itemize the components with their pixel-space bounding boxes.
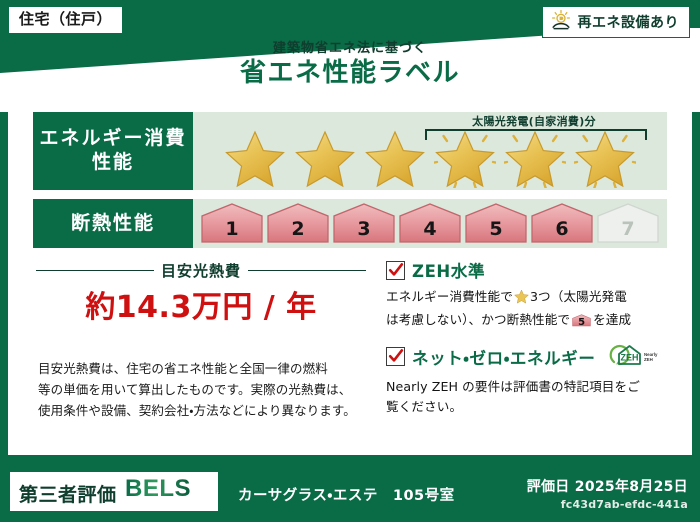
property-name: カーサグラス・エステ 105号室 [238,484,455,505]
note-line: 目安光熱費は、住宅の省エネ性能と全国一律の燃料 [38,358,374,379]
insulation-grade-value: 4 [423,218,436,244]
evaluation-date-label: 評価日 [527,479,570,495]
energy-performance-label: エネルギー消費性能 [33,112,193,190]
insulation-grade-badge-unachieved: 7 [596,203,660,244]
criteria-column: ZEH水準 エネルギー消費性能で3つ（太陽光発電 は考慮しない）、かつ断熱性能で… [386,258,678,429]
label-headings: 建築物省エネ法に基づく 省エネ性能ラベル [0,42,700,88]
criterion-title: ネット・ゼロ・エネルギー [412,345,595,369]
energy-performance-body: 太陽光発電(自家消費)分 [193,112,667,190]
evaluation-meta: 評価日 2025年8月25日 fc43d7ab-efdc-441a [527,476,688,511]
evaluation-date: 評価日 2025年8月25日 [527,476,688,496]
checkbox-checked-icon[interactable] [386,347,405,366]
utility-cost-value: 約14.3万円 / 年 [36,282,366,326]
insulation-grade-badge: 3 [332,203,396,244]
third-party-evaluation-label: 第三者評価 [19,480,117,507]
criterion-text: は考慮しない）、かつ断熱性能で [386,312,570,327]
utility-cost-title: 目安光熱費 [161,260,241,281]
insulation-grade-badge: 1 [200,203,264,244]
rule-left [36,270,154,271]
criterion-body: エネルギー消費性能で3つ（太陽光発電 は考慮しない）、かつ断熱性能で5を達成 [386,287,678,331]
criterion-text: エネルギー消費性能で [386,289,513,304]
energy-performance-row: エネルギー消費性能 太陽光発電(自家消費)分 [33,112,667,190]
insulation-grade-badge: 5 [464,203,528,244]
insulation-grade-value: 2 [291,218,304,244]
label-card: エネルギー消費性能 太陽光発電(自家消費)分 [8,100,692,455]
bels-certification-mark: 第三者評価 BELS [10,472,218,511]
building-type-tag: 住宅（住戸） [8,6,123,34]
star-icon [291,126,359,188]
checkbox-checked-icon[interactable] [386,261,405,280]
insulation-grade-value: 1 [225,218,238,244]
star-icon [361,126,429,188]
renewable-equipment-badge: 再エネ設備あり [542,6,691,38]
note-line: 使用条件や設備、契約会社・方法などにより異なります。 [38,400,374,421]
criterion-text: を達成 [593,312,631,327]
insulation-grade-value: 7 [621,218,634,244]
star-icon-solar [501,126,569,188]
insulation-grade-value: 5 [572,318,591,328]
criterion-header: ZEH水準 [386,258,678,282]
criterion-header: ネット・ゼロ・エネルギー ZEH Nearly ZEH [386,342,678,372]
star-icon-solar [431,126,499,188]
insulation-grade-value: 3 [357,218,370,244]
insulation-grade-value: 5 [489,218,502,244]
insulation-grade-badge: 6 [530,203,594,244]
solar-sun-icon [550,9,572,35]
svg-text:BELS: BELS [125,475,191,501]
insulation-performance-row: 断熱性能 1 [33,199,667,248]
svg-text:ZEH: ZEH [621,352,639,362]
bels-wordmark: BELS [125,475,209,505]
bels-energy-label: 住宅（住戸） 再エネ設備あり 建築物省エネ法に基づく 省エネ性能ラベル [0,0,700,522]
criterion-net-zero-energy: ネット・ゼロ・エネルギー ZEH Nearly ZEH Nearly ZE [386,342,678,418]
insulation-performance-body: 1 2 3 [193,199,667,248]
rule-right [248,270,366,271]
star-icon [221,126,289,188]
energy-star-rating [193,126,667,188]
renewable-badge-label: 再エネ設備あり [578,12,680,32]
insulation-grade-badge: 4 [398,203,462,244]
insulation-grade-badge: 2 [266,203,330,244]
criterion-zeh-standard: ZEH水準 エネルギー消費性能で3つ（太陽光発電 は考慮しない）、かつ断熱性能で… [386,258,678,331]
star-icon-solar [571,126,639,188]
insulation-grade-scale: 1 2 3 [193,199,667,248]
label-title: 省エネ性能ラベル [0,59,700,88]
note-line: 等の単価を用いて算出したものです。実際の光熱費は、 [38,379,374,400]
utility-cost-note: 目安光熱費は、住宅の省エネ性能と全国一律の燃料 等の単価を用いて算出したものです… [38,358,374,421]
footer-band: 第三者評価 BELS カーサグラス・エステ 105号室 評価日 2025年8月2… [0,464,700,522]
criterion-text: 覧ください。 [386,397,678,417]
criterion-body: Nearly ZEH の要件は評価書の特記項目をご 覧ください。 [386,377,678,418]
zeh-house-logo: ZEH Nearly ZEH [606,342,658,372]
criterion-text: Nearly ZEH の要件は評価書の特記項目をご [386,377,678,397]
insulation-grade-badge-inline: 5 [572,313,591,328]
insulation-performance-label: 断熱性能 [33,199,193,248]
criterion-title: ZEH水準 [412,258,485,282]
evaluation-date-value: 2025年8月25日 [575,479,688,495]
evaluation-id: fc43d7ab-efdc-441a [527,498,688,511]
criterion-text: 3つ（太陽光発電 [530,289,627,304]
label-subtitle: 建築物省エネ法に基づく [0,42,700,56]
insulation-grade-value: 6 [555,218,568,244]
utility-cost-heading: 目安光熱費 [36,260,366,281]
svg-text:ZEH: ZEH [644,357,653,362]
star-icon-inline [514,289,529,310]
